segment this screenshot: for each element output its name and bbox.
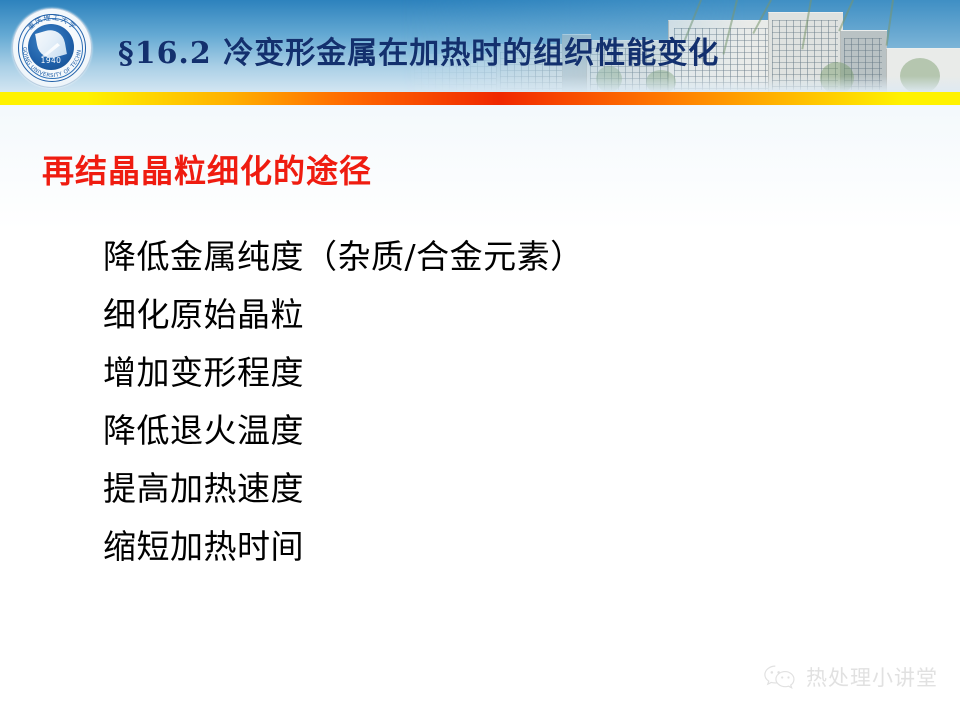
header-banner: 1940 重庆理工大学 CHONGQING UNIVERSITY OF TECH… bbox=[0, 0, 960, 92]
slide: 1940 重庆理工大学 CHONGQING UNIVERSITY OF TECH… bbox=[0, 0, 960, 720]
list-item: 细化原始晶粒 bbox=[103, 286, 584, 344]
list-item: 缩短加热时间 bbox=[103, 518, 584, 576]
header-divider-bar bbox=[0, 92, 960, 105]
photo-fade bbox=[400, 76, 960, 92]
watermark-label: 热处理小讲堂 bbox=[806, 662, 938, 692]
content-list: 降低金属纯度（杂质/合金元素） 细化原始晶粒 增加变形程度 降低退火温度 提高加… bbox=[103, 228, 584, 576]
slide-header-title: §16.2 冷变形金属在加热时的组织性能变化 bbox=[118, 28, 719, 72]
list-item: 降低退火温度 bbox=[103, 402, 584, 460]
wechat-icon bbox=[763, 663, 797, 691]
watermark: 热处理小讲堂 bbox=[763, 662, 938, 692]
seal-arc-text: 重庆理工大学 CHONGQING UNIVERSITY OF TECHNOLOG… bbox=[13, 9, 91, 87]
seal-chinese-name: 重庆理工大学 bbox=[26, 14, 78, 32]
list-item: 增加变形程度 bbox=[103, 344, 584, 402]
list-item: 提高加热速度 bbox=[103, 460, 584, 518]
list-item: 降低金属纯度（杂质/合金元素） bbox=[103, 228, 584, 286]
university-logo: 1940 重庆理工大学 CHONGQING UNIVERSITY OF TECH… bbox=[12, 8, 92, 88]
section-heading: 再结晶晶粒细化的途径 bbox=[42, 146, 372, 192]
